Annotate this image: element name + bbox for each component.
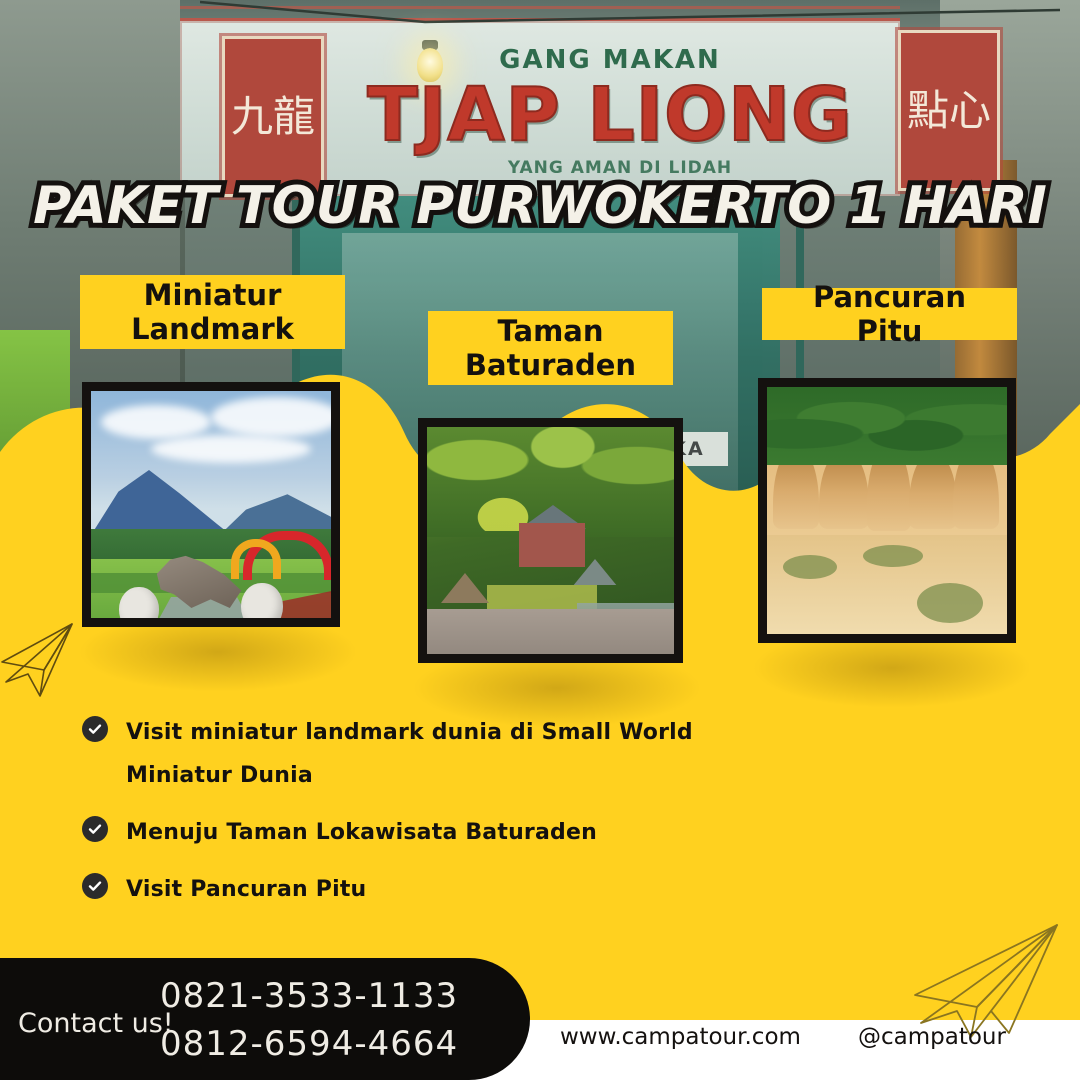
photo3-moss [863,545,923,567]
photo3-foliage [767,387,1007,465]
destination-label-taman-baturaden: Taman Baturaden [428,311,673,385]
poster: KA 九龍 點心 GANG MAKAN TJAP LIONG YANG AMAN… [0,0,1080,1080]
photo2-rock-foreground [427,609,674,663]
photo1-yellow-arch [231,539,281,579]
list-item: Visit Pancuran Pitu [82,869,702,912]
list-item-label: Menuju Taman Lokawisata Baturaden [126,812,597,855]
photo1-cloud [211,397,340,437]
phone-number-2[interactable]: 0812-6594-4664 [160,1020,458,1068]
phone-numbers: 0821-3533-1133 0812-6594-4664 [160,972,458,1069]
photo2-house [519,523,585,567]
page-title: PAKET TOUR PURWOKERTO 1 HARI [0,176,1080,236]
list-item-label: Visit miniatur landmark dunia di Small W… [126,712,702,798]
photo3-moss [783,555,837,579]
photo3-moss [917,583,983,623]
destination-label-line2: Baturaden [465,348,636,382]
destination-label-line1: Pancuran Pitu [776,280,1003,348]
check-circle-icon [82,716,108,742]
photo1-egg-statue [241,583,283,627]
destination-label-line1: Taman [465,314,636,348]
destination-label-pancuran-pitu: Pancuran Pitu [762,288,1017,340]
website-link[interactable]: www.campatour.com [560,1024,801,1050]
phone-number-1[interactable]: 0821-3533-1133 [160,972,458,1020]
list-item-label: Visit Pancuran Pitu [126,869,366,912]
list-item: Visit miniatur landmark dunia di Small W… [82,712,702,798]
photo1-cloud [151,435,311,463]
destination-label-miniatur-landmark: Miniatur Landmark [80,275,345,349]
pancuran-pitu-photo [758,378,1016,643]
destination-label-line1: Miniatur [131,278,294,312]
social-handle[interactable]: @campatour [858,1024,1006,1050]
paper-plane-icon [0,608,130,708]
check-circle-icon [82,873,108,899]
miniatur-landmark-photo [82,382,340,627]
destination-label-line2: Landmark [131,312,294,346]
check-circle-icon [82,816,108,842]
itinerary-list: Visit miniatur landmark dunia di Small W… [82,712,702,926]
taman-baturaden-photo [418,418,683,663]
photo1-cloud [101,405,211,439]
list-item: Menuju Taman Lokawisata Baturaden [82,812,702,855]
